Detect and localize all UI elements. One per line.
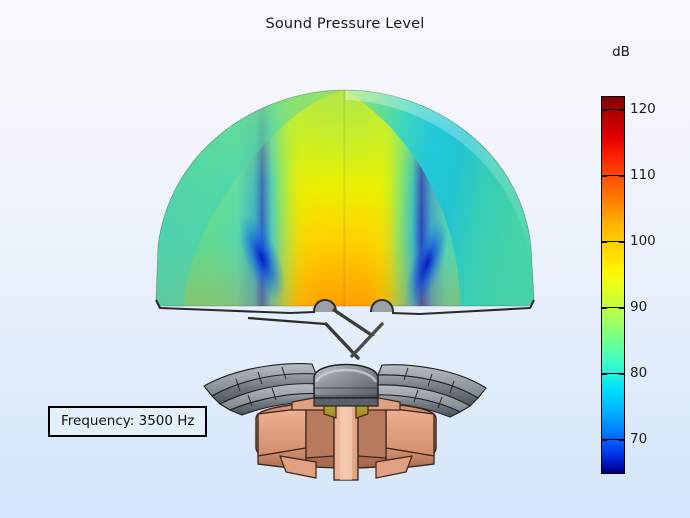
loudspeaker-driver-cutaway — [196, 352, 496, 492]
cut-plane-seam — [343, 86, 345, 311]
cut-plane-seam-highlight — [346, 86, 347, 311]
colorbar-gradient — [601, 96, 625, 474]
colorbar-tick-label-80: 80 — [630, 365, 647, 381]
three-d-scene[interactable]: Frequency: 3500 Hz — [0, 0, 596, 518]
colorbar-tick-110 — [602, 175, 624, 176]
colorbar-tick-120 — [602, 109, 624, 110]
visualization-canvas: Sound Pressure Level — [0, 0, 690, 518]
colorbar-unit-label: dB — [596, 44, 646, 60]
colorbar: dB 120110100908070 — [596, 44, 690, 484]
colorbar-tick-label-100: 100 — [630, 233, 656, 249]
frequency-annotation[interactable]: Frequency: 3500 Hz — [48, 406, 207, 437]
colorbar-tick-90 — [602, 307, 624, 308]
dome-field — [130, 86, 560, 336]
colorbar-tick-label-110: 110 — [630, 167, 656, 183]
colorbar-tick-label-70: 70 — [630, 431, 647, 447]
colorbar-tick-label-120: 120 — [630, 101, 656, 117]
acoustic-pressure-dome — [130, 86, 560, 326]
frequency-annotation-label: Frequency: 3500 Hz — [61, 413, 194, 429]
dome-diaphragm — [314, 365, 378, 407]
colorbar-tick-label-90: 90 — [630, 299, 647, 315]
colorbar-tick-100 — [602, 241, 624, 242]
pole-piece — [334, 396, 358, 480]
colorbar-tick-80 — [602, 373, 624, 374]
colorbar-tick-70 — [602, 439, 624, 440]
